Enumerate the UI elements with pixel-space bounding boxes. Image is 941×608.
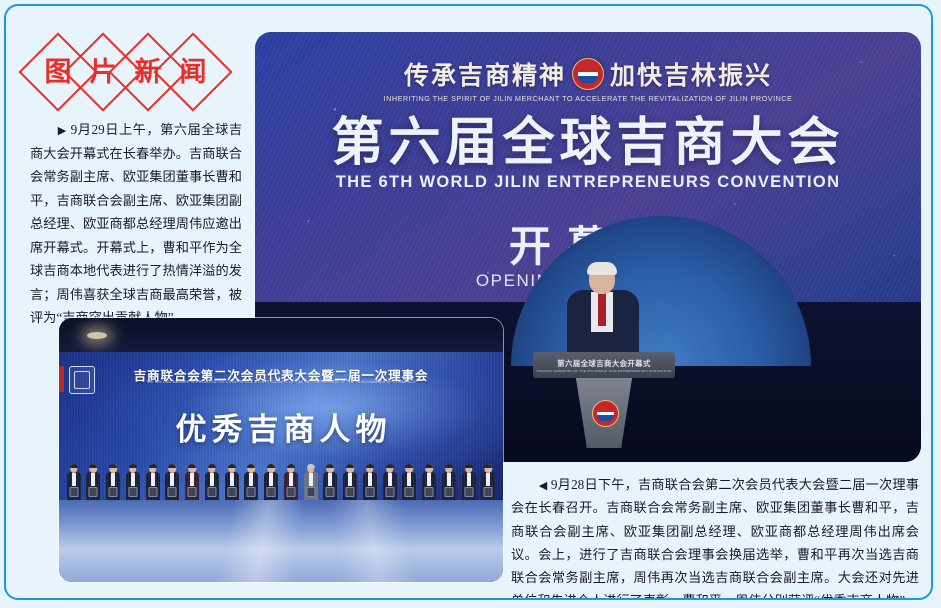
masthead-diamond-4: 闻: [153, 32, 232, 111]
trophy-icon: [425, 487, 434, 497]
trophy-icon: [385, 487, 394, 497]
honoree-head: [129, 464, 137, 473]
masthead-picture-news: 图 片 新 闻: [30, 36, 240, 108]
trophy-icon: [247, 487, 256, 497]
newspaper-page: 图 片 新 闻 ▶ 9月29日上午，第六届全球吉商大会开幕式在长春举办。吉商联合…: [4, 4, 933, 600]
honoree-head: [169, 464, 177, 473]
honoree-head: [366, 464, 374, 473]
slogan-english-subtitle: INHERITING THE SPIRIT OF JILIN MERCHANT …: [384, 94, 793, 103]
honoree-hair: [149, 464, 157, 468]
honoree-head: [386, 464, 394, 473]
honoree-head: [149, 464, 157, 473]
honoree-head: [90, 464, 98, 473]
honoree-head: [406, 464, 414, 473]
convention-title-block: 第六届全球吉商大会 THE 6TH WORLD JILIN ENTREPRENE…: [255, 116, 921, 192]
honoree-shirt: [72, 473, 76, 486]
honoree-hair: [484, 464, 492, 468]
honoree-head: [346, 464, 354, 473]
podium-label-english: OPENING CEREMONY OF THE 6TH WORLD JILIN …: [536, 369, 671, 373]
podium-nameplate: 第六届全球吉商大会开幕式 OPENING CEREMONY OF THE 6TH…: [533, 352, 675, 378]
trophy-icon: [286, 487, 295, 497]
honoree-hair: [109, 464, 117, 468]
honoree-head: [465, 464, 473, 473]
slogan-left-text: 传承吉商精神: [404, 56, 566, 92]
speaker-figure: [560, 264, 646, 356]
lower-photo-award-ceremony: 吉商联合会第二次会员代表大会暨二届一次理事会 THE SECOND MEMBER…: [59, 318, 503, 582]
left-article-text: 9月29日上午，第六届全球吉商大会开幕式在长春举办。吉商联合会常务副主席、欧亚集…: [30, 122, 242, 325]
lower-photo-main-title: 优秀吉商人物: [59, 404, 503, 449]
honoree-hair: [445, 464, 453, 468]
convention-title-english: THE 6TH WORLD JILIN ENTREPRENEURS CONVEN…: [255, 173, 921, 192]
honoree-head: [485, 464, 493, 473]
honoree-shirt: [91, 473, 95, 486]
trophy-icon: [346, 487, 355, 497]
trophy-icon: [69, 487, 78, 497]
speaker-tie: [598, 292, 606, 326]
trophy-icon: [227, 487, 236, 497]
trophy-icon: [444, 487, 453, 497]
honoree-hair: [267, 464, 275, 468]
honoree-head: [208, 464, 216, 473]
trophy-icon: [128, 487, 137, 497]
trophy-icon: [168, 487, 177, 497]
honoree-shirt: [309, 473, 313, 486]
trophy-icon: [188, 487, 197, 497]
honoree-head: [267, 464, 275, 473]
honoree-head: [327, 464, 335, 473]
honoree-hair: [168, 464, 176, 468]
honoree-shirt: [368, 473, 372, 486]
trophy-icon: [306, 487, 315, 497]
honoree-hair: [89, 464, 97, 468]
right-caption-body: ◀ 9月28日下午，吉商联合会第二次会员代表大会暨二届一次理事会在长春召开。吉商…: [511, 473, 919, 600]
honoree-hair: [70, 464, 78, 468]
honoree-hair: [307, 464, 315, 468]
honoree-head: [425, 464, 433, 473]
honoree-hair: [129, 464, 137, 468]
honoree-shirt: [111, 473, 115, 486]
venue-ceiling: [59, 318, 503, 352]
podium: 第六届全球吉商大会开幕式 OPENING CEREMONY OF THE 6TH…: [533, 352, 675, 448]
speaker-hair: [587, 262, 617, 275]
trophy-icon: [464, 487, 473, 497]
honoree-hair: [465, 464, 473, 468]
right-caption-marker: ◀: [539, 480, 548, 492]
honoree-hair: [247, 464, 255, 468]
honoree-head: [70, 464, 78, 473]
trophy-icon: [326, 487, 335, 497]
honoree-hair: [346, 464, 354, 468]
left-article-body: ▶ 9月29日上午，第六届全球吉商大会开幕式在长春举办。吉商联合会常务副主席、欧…: [30, 118, 242, 330]
honoree-hair: [287, 464, 295, 468]
honoree-shirt: [289, 473, 293, 486]
trophy-icon: [207, 487, 216, 497]
honoree-shirt: [269, 473, 273, 486]
honoree-hair: [386, 464, 394, 468]
honoree-hair: [366, 464, 374, 468]
trophy-icon: [267, 487, 276, 497]
honoree-shirt: [486, 473, 490, 486]
honoree-hair: [425, 464, 433, 468]
chamber-logo-icon: [69, 366, 95, 394]
honoree-shirt: [190, 473, 194, 486]
lower-photo-header-chinese: 吉商联合会第二次会员代表大会暨二届一次理事会: [59, 365, 503, 384]
banner-slogan-row: 传承吉商精神 加快吉林振兴: [404, 56, 772, 92]
banner-slogan-block: 传承吉商精神 加快吉林振兴 INHERITING THE SPIRIT OF J…: [255, 56, 921, 103]
stage-floor: [59, 500, 503, 582]
honoree-head: [248, 464, 256, 473]
honoree-head: [228, 464, 236, 473]
honoree-hair: [208, 464, 216, 468]
trophy-icon: [405, 487, 414, 497]
trophy-icon: [484, 487, 493, 497]
trophy-icon: [109, 487, 118, 497]
slogan-right-text: 加快吉林振兴: [610, 56, 772, 92]
honoree-head: [188, 464, 196, 473]
honoree-head: [287, 464, 295, 473]
trophy-icon: [365, 487, 374, 497]
honoree-hair: [405, 464, 413, 468]
right-caption-text: 9月28日下午，吉商联合会第二次会员代表大会暨二届一次理事会在长春召开。吉商联合…: [511, 477, 919, 600]
masthead-char-4: 闻: [180, 59, 207, 86]
honoree-shirt: [467, 473, 471, 486]
honoree-hair: [326, 464, 334, 468]
honoree-shirt: [170, 473, 174, 486]
honoree-hair: [228, 464, 236, 468]
honoree-hair: [188, 464, 196, 468]
podium-emblem-icon: [592, 400, 619, 427]
podium-label-chinese: 第六届全球吉商大会开幕式: [557, 358, 651, 369]
venue-led-screen: 吉商联合会第二次会员代表大会暨二届一次理事会 THE SECOND MEMBER…: [59, 352, 503, 500]
honoree-head: [445, 464, 453, 473]
trophy-icon: [148, 487, 157, 497]
lower-photo-header-english: THE SECOND MEMBER REPRESENTATIVE CONFERE…: [59, 380, 503, 384]
honoree-shirt: [131, 473, 135, 486]
honoree-shirt: [328, 473, 332, 486]
honoree-shirt: [348, 473, 352, 486]
jilin-chamber-emblem-icon: [572, 58, 604, 90]
convention-title-chinese: 第六届全球吉商大会: [255, 116, 921, 171]
honoree-shirt: [388, 473, 392, 486]
left-article-marker: ▶: [58, 125, 67, 137]
trophy-icon: [89, 487, 98, 497]
honoree-shirt: [230, 473, 234, 486]
right-caption: ◀ 9月28日下午，吉商联合会第二次会员代表大会暨二届一次理事会在长春召开。吉商…: [511, 473, 919, 600]
honoree-head: [307, 464, 315, 473]
screen-red-accent-bar: [59, 366, 64, 392]
honoree-head: [109, 464, 117, 473]
honoree-shirt: [210, 473, 214, 486]
honoree-shirt: [447, 473, 451, 486]
honoree-shirt: [427, 473, 431, 486]
honoree-shirt: [151, 473, 155, 486]
honoree-shirt: [407, 473, 411, 486]
honoree-shirt: [249, 473, 253, 486]
